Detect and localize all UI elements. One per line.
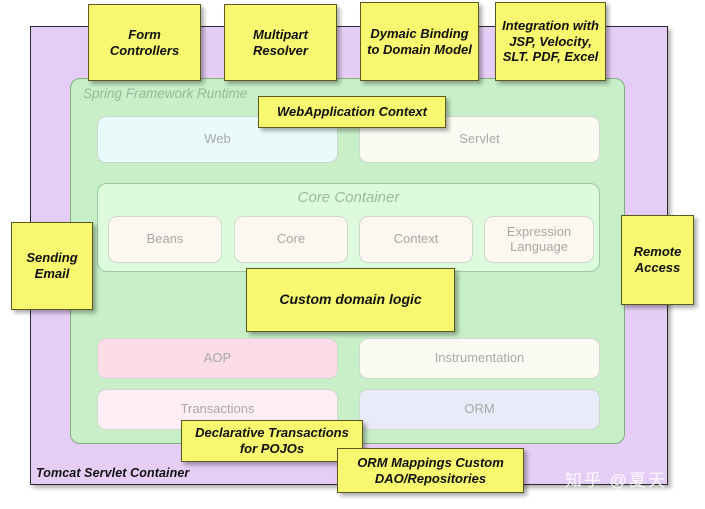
module-orm-label: ORM	[464, 402, 494, 417]
note-integration[interactable]: Integration with JSP, Velocity, SLT. PDF…	[495, 2, 606, 81]
module-orm: ORM	[359, 389, 600, 430]
core-container-label: Core Container	[98, 189, 599, 206]
note-multipart-resolver[interactable]: Multipart Resolver	[224, 4, 337, 81]
diagram-canvas: Tomcat Servlet Container Spring Framewor…	[0, 0, 705, 509]
module-beans-label: Beans	[147, 232, 184, 247]
module-beans: Beans	[108, 216, 222, 263]
module-core-label: Core	[277, 232, 305, 247]
spring-framework-runtime-label: Spring Framework Runtime	[83, 86, 247, 101]
module-instrumentation-label: Instrumentation	[435, 351, 525, 366]
note-integration-label: Integration with JSP, Velocity, SLT. PDF…	[500, 18, 601, 66]
module-expression-language: Expression Language	[484, 216, 594, 263]
module-servlet-label: Servlet	[459, 132, 499, 147]
core-container-panel: Core Container Beans Core Context Expres…	[97, 183, 600, 272]
module-expression-language-label: Expression Language	[485, 225, 593, 255]
note-dynamic-binding[interactable]: Dymaic Binding to Domain Model	[360, 2, 479, 81]
module-transactions-label: Transactions	[181, 402, 255, 417]
module-core: Core	[234, 216, 348, 263]
module-context-label: Context	[394, 232, 439, 247]
note-form-controllers-label: Form Controllers	[93, 27, 196, 59]
note-remote-access[interactable]: Remote Access	[621, 215, 694, 305]
note-remote-access-label: Remote Access	[626, 244, 689, 276]
note-declarative-transactions-label: Declarative Transactions for POJOs	[186, 425, 358, 457]
note-webapplication-context[interactable]: WebApplication Context	[258, 96, 446, 128]
note-sending-email[interactable]: Sending Email	[11, 222, 93, 310]
module-context: Context	[359, 216, 473, 263]
note-orm-mappings[interactable]: ORM Mappings Custom DAO/Repositories	[337, 448, 524, 493]
module-aop-label: AOP	[204, 351, 231, 366]
module-web-label: Web	[204, 132, 231, 147]
note-form-controllers[interactable]: Form Controllers	[88, 4, 201, 81]
module-aop: AOP	[97, 338, 338, 379]
spring-framework-runtime-panel: Spring Framework Runtime Web Servlet Cor…	[70, 78, 625, 444]
note-multipart-resolver-label: Multipart Resolver	[229, 27, 332, 59]
note-declarative-transactions[interactable]: Declarative Transactions for POJOs	[181, 420, 363, 462]
note-orm-mappings-label: ORM Mappings Custom DAO/Repositories	[342, 455, 519, 487]
note-custom-domain-logic-label: Custom domain logic	[279, 291, 421, 308]
note-custom-domain-logic[interactable]: Custom domain logic	[246, 268, 455, 332]
note-dynamic-binding-label: Dymaic Binding to Domain Model	[365, 26, 474, 58]
note-webapplication-context-label: WebApplication Context	[277, 104, 427, 120]
note-sending-email-label: Sending Email	[16, 250, 88, 282]
module-instrumentation: Instrumentation	[359, 338, 600, 379]
tomcat-servlet-container-label: Tomcat Servlet Container	[36, 466, 189, 480]
